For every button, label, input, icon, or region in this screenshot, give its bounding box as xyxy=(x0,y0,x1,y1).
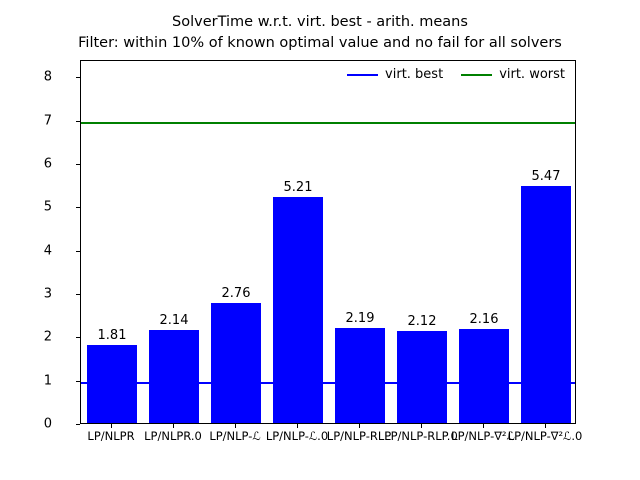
y-tick-label-8: 8 xyxy=(12,71,52,84)
x-tick-label-6: LP/NLP-∇²ℒ xyxy=(451,430,515,443)
bar-3 xyxy=(273,197,323,423)
legend-line-icon-virt-best xyxy=(347,74,378,76)
x-tick-label-0: LP/NLPR xyxy=(87,430,134,443)
y-tick-label-0: 0 xyxy=(12,418,52,431)
bar-value-0: 1.81 xyxy=(98,329,127,342)
bar-value-7: 5.47 xyxy=(532,170,561,183)
x-tick-label-3: LP/NLP-ℒ.0 xyxy=(266,430,328,443)
chart-title: SolverTime w.r.t. virt. best - arith. me… xyxy=(0,12,640,33)
chart-subtitle: Filter: within 10% of known optimal valu… xyxy=(0,33,640,54)
bar-value-6: 2.16 xyxy=(470,313,499,326)
x-tick-mark xyxy=(545,424,546,428)
chart-title-block: SolverTime w.r.t. virt. best - arith. me… xyxy=(0,12,640,54)
bar-value-5: 2.12 xyxy=(408,315,437,328)
bar-1 xyxy=(149,330,199,423)
virt-worst-line xyxy=(81,122,575,124)
chart-figure: SolverTime w.r.t. virt. best - arith. me… xyxy=(0,0,640,480)
virt-best-line xyxy=(81,382,575,384)
y-tick-label-5: 5 xyxy=(12,201,52,214)
legend-label-virt-worst: virt. worst xyxy=(499,68,565,81)
y-tick-label-4: 4 xyxy=(12,244,52,257)
legend-label-virt-best: virt. best xyxy=(385,68,443,81)
bar-6 xyxy=(459,329,509,423)
x-tick-label-5: LP/NLP-RLP.0 xyxy=(384,430,458,443)
bar-0 xyxy=(87,345,137,423)
bar-value-3: 5.21 xyxy=(284,181,313,194)
y-tick-label-2: 2 xyxy=(12,331,52,344)
legend-entry-virt-best: virt. best xyxy=(347,68,443,81)
bar-7 xyxy=(521,186,571,423)
bar-4 xyxy=(335,328,385,423)
bar-value-2: 2.76 xyxy=(222,287,251,300)
bar-5 xyxy=(397,331,447,423)
plot-area: 1.81 2.14 2.76 5.21 2.19 2.12 2.16 5.47 … xyxy=(80,60,576,424)
legend-line-icon-virt-worst xyxy=(461,74,492,76)
bar-value-4: 2.19 xyxy=(346,312,375,325)
y-tick-label-1: 1 xyxy=(12,374,52,387)
x-tick-mark xyxy=(359,424,360,428)
x-tick-label-4: LP/NLP-RLP xyxy=(327,430,391,443)
chart-legend: virt. best virt. worst xyxy=(343,66,569,83)
x-tick-mark xyxy=(421,424,422,428)
y-tick-label-7: 7 xyxy=(12,114,52,127)
legend-entry-virt-worst: virt. worst xyxy=(461,68,565,81)
x-tick-mark xyxy=(235,424,236,428)
x-tick-mark xyxy=(111,424,112,428)
y-tick-label-6: 6 xyxy=(12,158,52,171)
y-tick-mark xyxy=(76,424,80,425)
bar-value-1: 2.14 xyxy=(160,314,189,327)
x-tick-mark xyxy=(483,424,484,428)
x-tick-mark xyxy=(297,424,298,428)
x-tick-label-2: LP/NLP-ℒ xyxy=(209,430,260,443)
x-tick-mark xyxy=(173,424,174,428)
bar-2 xyxy=(211,303,261,423)
y-tick-label-3: 3 xyxy=(12,288,52,301)
x-tick-label-1: LP/NLPR.0 xyxy=(144,430,202,443)
x-tick-label-7: LP/NLP-∇²ℒ.0 xyxy=(508,430,583,443)
